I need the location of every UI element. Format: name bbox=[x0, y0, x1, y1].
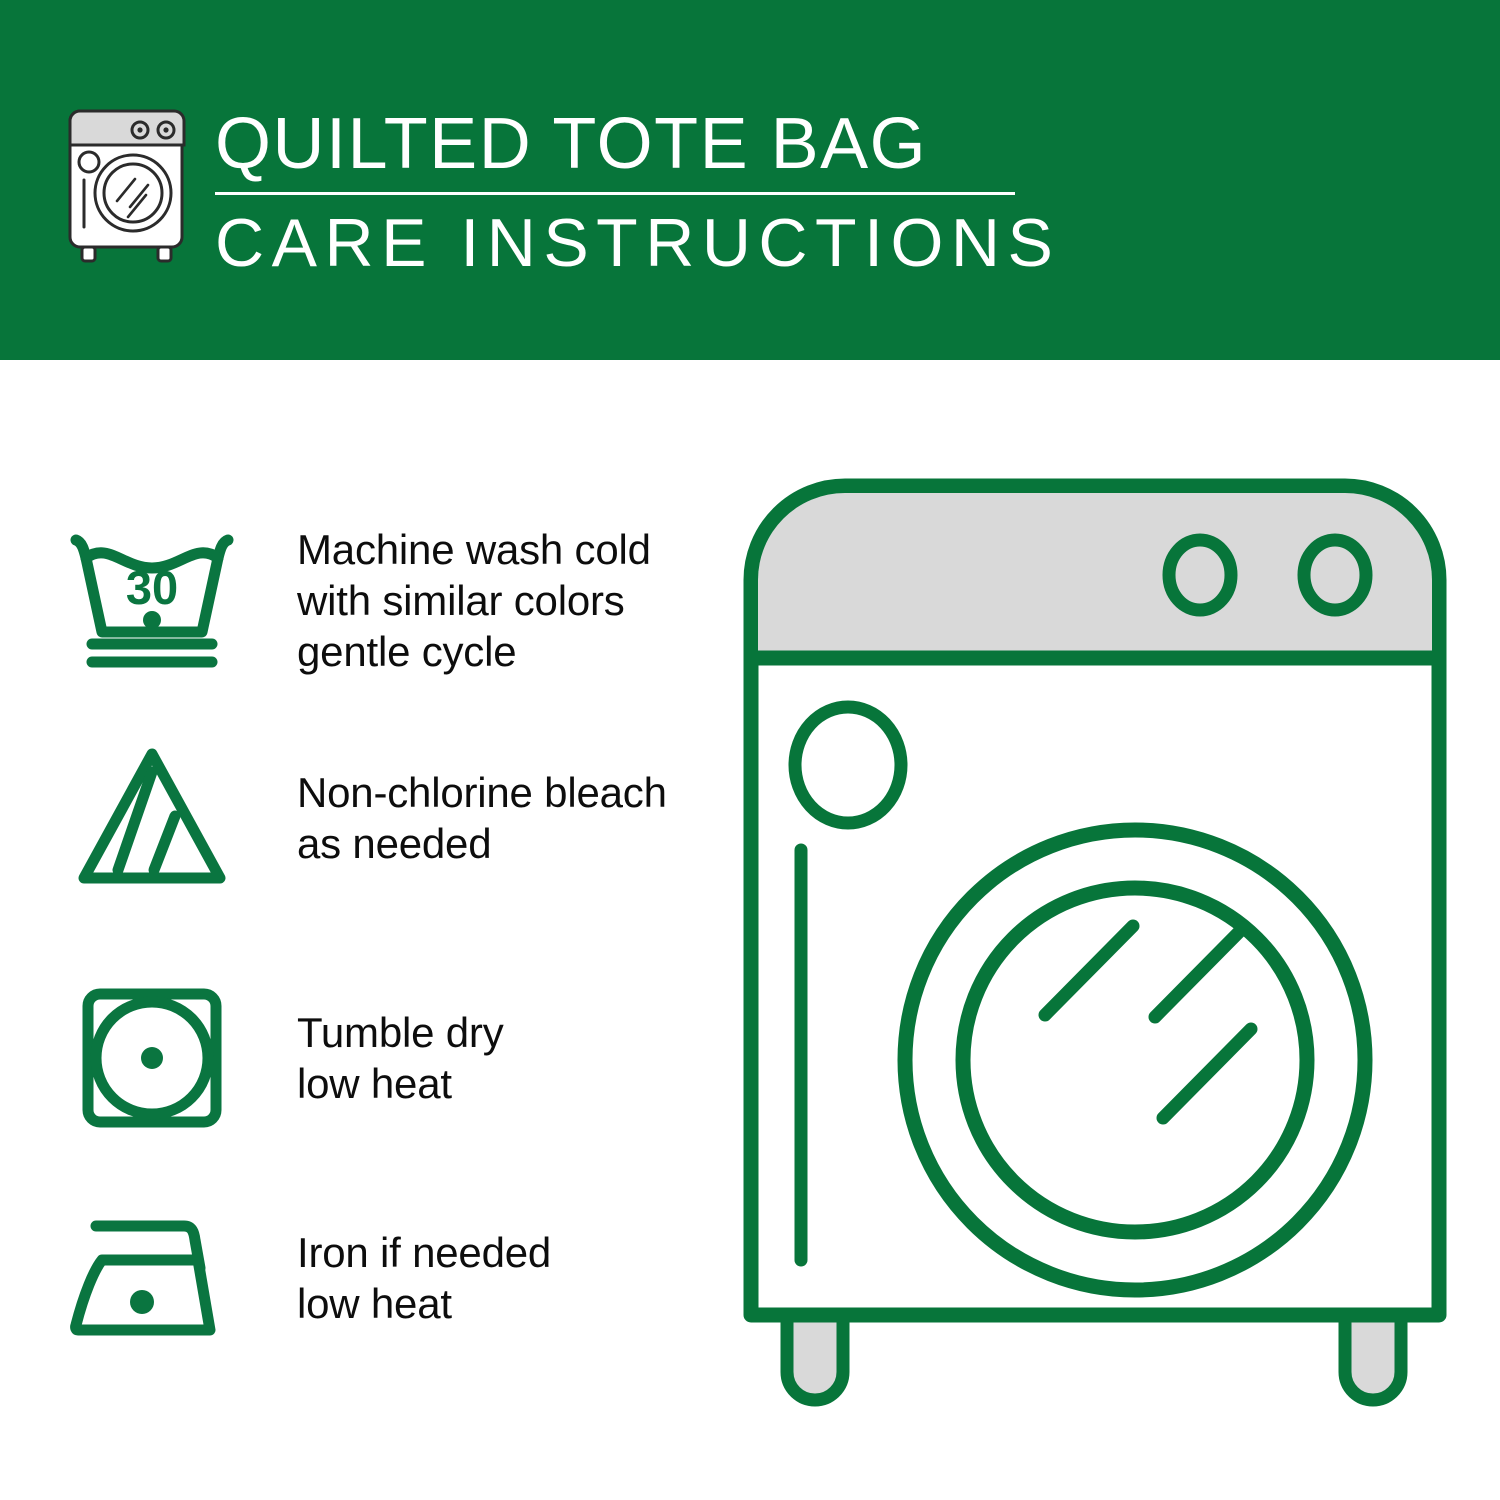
front-load-washing-machine-illustration bbox=[735, 470, 1475, 1430]
care-instructions-list: 30 Machine wash cold with similar colors… bbox=[0, 360, 730, 1500]
care-item-label: Non-chlorine bleach as needed bbox=[297, 767, 667, 869]
detergent-dispenser-circle bbox=[795, 707, 901, 823]
title-divider bbox=[215, 192, 1015, 195]
header-banner: QUILTED TOTE BAG CARE INSTRUCTIONS bbox=[0, 0, 1500, 360]
care-item-label: Machine wash cold with similar colors ge… bbox=[297, 524, 651, 677]
care-row: Tumble dry low heat bbox=[0, 958, 730, 1158]
tumble-dry-low-symbol bbox=[62, 971, 242, 1146]
page-subtitle: CARE INSTRUCTIONS bbox=[215, 204, 1020, 282]
leg-right bbox=[1345, 1310, 1401, 1400]
wash-temperature-label: 30 bbox=[126, 561, 178, 614]
machine-wash-30-gentle-symbol: 30 bbox=[62, 513, 242, 688]
care-row: Non-chlorine bleach as needed bbox=[0, 718, 730, 918]
iron-low-heat-symbol bbox=[62, 1191, 242, 1366]
header-text-block: QUILTED TOTE BAG CARE INSTRUCTIONS bbox=[215, 104, 1020, 282]
door-inner-ring bbox=[963, 888, 1307, 1232]
washing-machine-icon bbox=[62, 105, 194, 265]
page-title: QUILTED TOTE BAG bbox=[215, 104, 1020, 184]
leg-left bbox=[787, 1310, 843, 1400]
care-row: 30 Machine wash cold with similar colors… bbox=[0, 500, 730, 700]
knob-left bbox=[1169, 540, 1231, 610]
knob-right bbox=[1304, 540, 1366, 610]
non-chlorine-bleach-symbol bbox=[62, 731, 242, 906]
care-item-label: Tumble dry low heat bbox=[297, 1007, 504, 1109]
care-item-label: Iron if needed low heat bbox=[297, 1227, 551, 1329]
care-row: Iron if needed low heat bbox=[0, 1178, 730, 1378]
